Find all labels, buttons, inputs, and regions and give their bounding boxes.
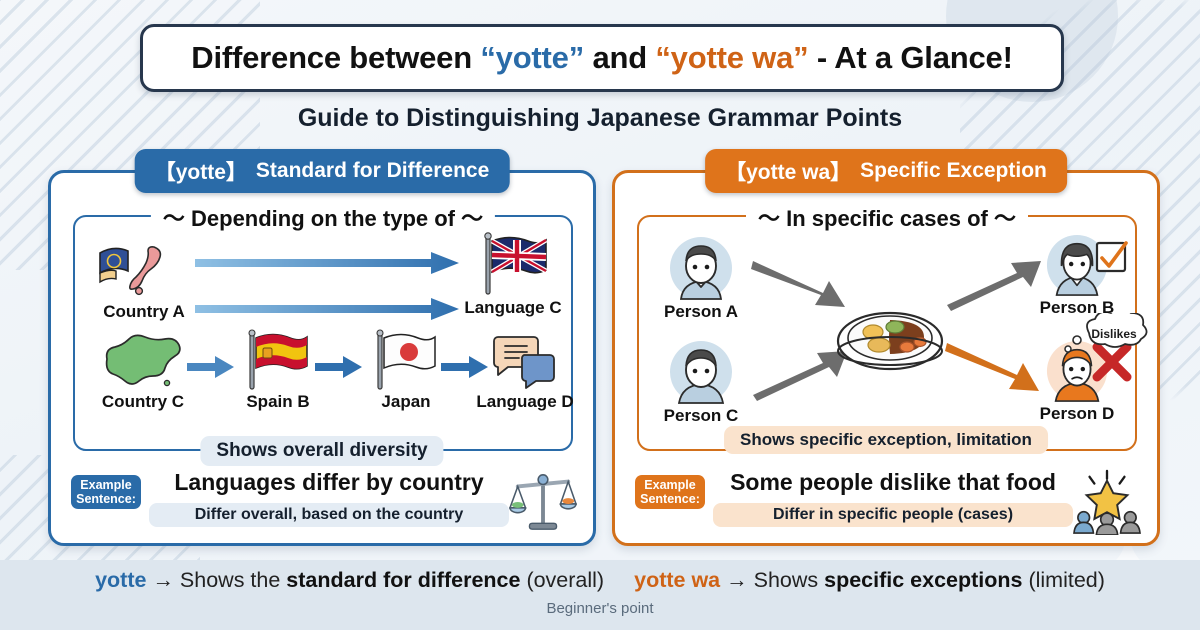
title-part-post: - At a Glance! [808,40,1012,75]
person-avatar-icon [664,235,738,301]
yotte-wa-summary-pill: Shows specific exception, limitation [724,426,1048,454]
yotte-diagram-box: ～ Depending on the type of ～ Country A [73,215,573,451]
yotte-row1-arrows [193,245,465,323]
panel-yotte-wa-badge-label: Specific Exception [860,159,1047,183]
panel-yotte: 【yotte】 Standard for Difference ～ Depend… [48,170,596,546]
yotte-wa-example-tag-line1: Example [635,478,705,492]
bottom-summary-bar: yotte → Shows the standard for differenc… [0,560,1200,630]
title-keyword-yotte: “yotte” [480,40,584,75]
yotte-example-note: Differ overall, based on the country [149,503,509,527]
arrow-dish-to-person-d [945,339,1041,397]
bottom-summary-line: yotte → Shows the standard for differenc… [0,568,1200,593]
page-subtitle: Guide to Distinguishing Japanese Grammar… [0,104,1200,133]
balance-scale-icon [509,469,577,535]
node-spain-b: Spain B [231,329,325,412]
yotte-example-tag: Example Sentence: [71,475,141,509]
node-language-d-label: Language D [476,392,573,412]
yotte-wa-example-tag-line2: Sentence: [635,492,705,506]
panel-yotte-badge: 【yotte】 Standard for Difference [135,149,510,193]
bottom-left-post: (overall) [520,568,604,592]
yotte-row2-arrow-2 [315,354,363,380]
bottom-left-pre: Shows the [174,568,286,592]
node-person-a-label: Person A [664,302,738,322]
node-country-a: Country A [89,239,199,322]
dislikes-thought-bubble: Dislikes [1077,313,1151,358]
yotte-wa-diagram-box: ～ In specific cases of ～ Person A [637,215,1137,451]
yotte-summary-pill: Shows overall diversity [200,436,443,466]
node-person-c-label: Person C [664,406,739,426]
speech-bubbles-icon [490,329,560,391]
bottom-note: Beginner's point [0,600,1200,617]
node-spain-b-label: Spain B [246,392,309,412]
eu-flag-and-japan-map-icon [92,239,196,301]
panel-yotte-badge-keyword: 【yotte】 [155,156,247,186]
china-map-icon [97,331,189,391]
japan-flag-icon [369,329,443,391]
node-curry-dish [835,301,945,380]
yotte-example-row: Example Sentence: Languages differ by co… [71,469,579,537]
dislikes-bubble-text: Dislikes [1091,327,1137,341]
bottom-left-strong: standard for difference [286,568,520,592]
title-banner: Difference between “yotte” and “yotte wa… [140,24,1064,92]
panel-yotte-wa: 【yotte wa】 Specific Exception ～ In speci… [612,170,1160,546]
thought-bubble-icon: Dislikes [1077,313,1151,353]
title-keyword-yotte-wa: “yotte wa” [655,40,808,75]
bottom-right-pre: Shows [748,568,824,592]
yotte-diagram-legend: ～ Depending on the type of ～ [151,201,495,233]
node-language-c-label: Language C [464,298,561,318]
uk-flag-icon [476,231,550,297]
yotte-wa-example-tag: Example Sentence: [635,475,705,509]
thought-bubble-tail-icon [1063,335,1085,355]
person-avatar-icon [664,339,738,405]
page-title: Difference between “yotte” and “yotte wa… [191,40,1012,76]
node-country-a-label: Country A [103,302,185,322]
arrow-person-c-to-dish [751,345,847,401]
node-language-d: Language D [479,329,571,412]
star-people-icon [1073,469,1141,535]
panel-yotte-badge-label: Standard for Difference [256,159,489,183]
spain-flag-icon [241,329,315,391]
bottom-keyword-yotte: yotte [95,568,146,592]
node-country-c-label: Country C [102,392,184,412]
infographic-canvas: Difference between “yotte” and “yotte wa… [0,0,1200,630]
bottom-right-arrow: → [726,568,748,592]
node-country-c: Country C [91,331,195,412]
curry-plate-icon [835,301,945,375]
node-japan: Japan [359,329,453,412]
arrow-person-a-to-dish [751,257,847,313]
yotte-wa-example-row: Example Sentence: Some people dislike th… [635,469,1143,537]
yotte-wa-example-sentence: Some people dislike that food [713,469,1073,496]
bottom-right-strong: specific exceptions [824,568,1022,592]
node-japan-label: Japan [381,392,430,412]
yotte-wa-diagram-legend: ～ In specific cases of ～ [746,201,1028,233]
panel-yotte-wa-badge-keyword: 【yotte wa】 [725,156,851,186]
node-person-d-label: Person D [1040,404,1115,424]
bottom-right-post: (limited) [1022,568,1104,592]
node-person-a: Person A [651,235,751,322]
yotte-example-tag-line2: Sentence: [71,492,141,506]
yotte-example-sentence: Languages differ by country [149,469,509,496]
node-person-c: Person C [651,339,751,426]
title-part-pre: Difference between [191,40,480,75]
title-part-mid: and [584,40,655,75]
orange-check-icon [1095,241,1129,275]
yotte-example-tag-line1: Example [71,478,141,492]
bottom-left-arrow: → [152,568,174,592]
bottom-keyword-yotte-wa: yotte wa [634,568,720,592]
yotte-row2-arrow-1 [187,354,235,380]
yotte-wa-example-note: Differ in specific people (cases) [713,503,1073,527]
arrow-dish-to-person-b [945,255,1041,311]
panel-yotte-wa-badge: 【yotte wa】 Specific Exception [705,149,1067,193]
node-language-c: Language C [461,231,565,318]
